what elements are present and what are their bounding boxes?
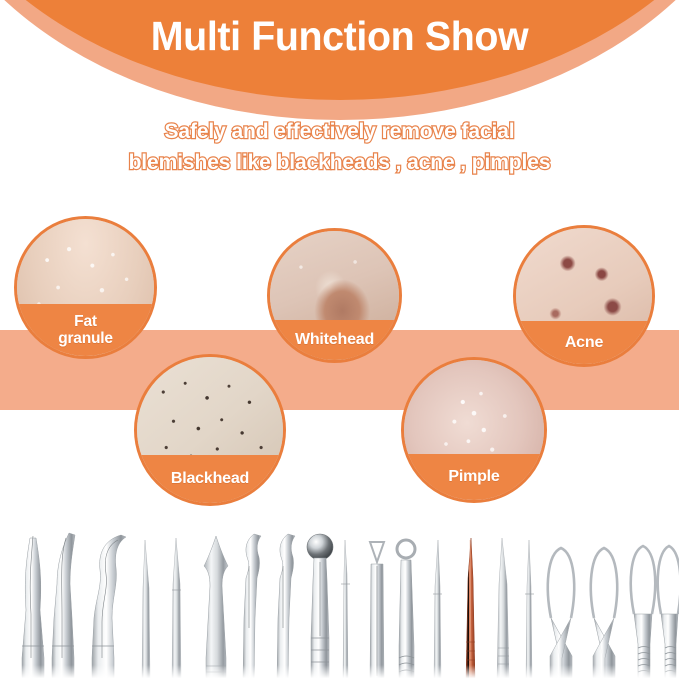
tool-triangle-loop-extractor: [370, 542, 384, 679]
tool-small-angled-hook: [243, 534, 261, 679]
condition-label-box-acne: Acne: [516, 321, 652, 364]
tool-copper-handle-needle: [466, 538, 475, 679]
tool-textured-loop-tweezer-1: [631, 546, 655, 679]
tool-tapered-lancet-needle: [497, 538, 509, 679]
condition-label-box-fat-granule: Fat granule: [17, 304, 154, 356]
tool-loop-tweezer-extractor-1: [548, 548, 574, 679]
condition-card-fat-granule: Fat granule: [14, 216, 157, 359]
page-title: Multi Function Show: [14, 13, 666, 59]
infographic-page: Multi Function Show Safely and effective…: [0, 0, 679, 679]
condition-label-whitehead: Whitehead: [295, 331, 374, 349]
tool-set-photo: [0, 518, 679, 679]
condition-label-fat-granule-line1: Fat: [74, 313, 97, 330]
condition-card-blackhead: Blackhead: [134, 354, 286, 506]
tool-angled-hook-probe: [52, 533, 75, 679]
tool-round-spoon-comedone-extractor: [307, 534, 333, 679]
condition-label-box-whitehead: Whitehead: [270, 320, 399, 360]
tool-curved-sharp-probe: [22, 536, 44, 679]
condition-label-fat-granule-line2: granule: [58, 330, 113, 347]
subtitle-line-2: blemishes like blackheads , acne , pimpl…: [0, 147, 679, 178]
condition-card-acne: Acne: [513, 225, 655, 367]
tool-textured-loop-tweezer-2: [658, 546, 679, 679]
tool-spear-point-extractor: [204, 536, 228, 679]
condition-label-blackhead: Blackhead: [171, 470, 249, 488]
condition-label-pimple: Pimple: [448, 468, 499, 486]
tool-slim-needle-probe: [525, 540, 534, 679]
condition-card-pimple: Pimple: [401, 357, 547, 503]
tool-double-curve-hook: [92, 535, 126, 679]
tool-straight-needle-lancet: [172, 538, 181, 679]
condition-card-whitehead: Whitehead: [267, 228, 402, 363]
tool-thin-straight-needle: [341, 540, 350, 679]
subtitle-line-1: Safely and effectively remove facial: [0, 116, 679, 147]
tool-fine-straight-needle-2: [433, 540, 442, 679]
condition-label-acne: Acne: [565, 334, 603, 352]
subtitle: Safely and effectively remove facial ble…: [0, 116, 679, 178]
tool-small-curved-hook: [277, 534, 295, 679]
condition-label-box-blackhead: Blackhead: [137, 455, 283, 503]
tool-fine-needle-probe: [142, 540, 150, 679]
condition-label-box-pimple: Pimple: [404, 454, 544, 500]
tool-loop-tweezer-extractor-2: [591, 548, 617, 679]
tool-round-loop-extractor: [397, 540, 415, 679]
condition-label-fat-granule: Fat granule: [58, 313, 113, 347]
